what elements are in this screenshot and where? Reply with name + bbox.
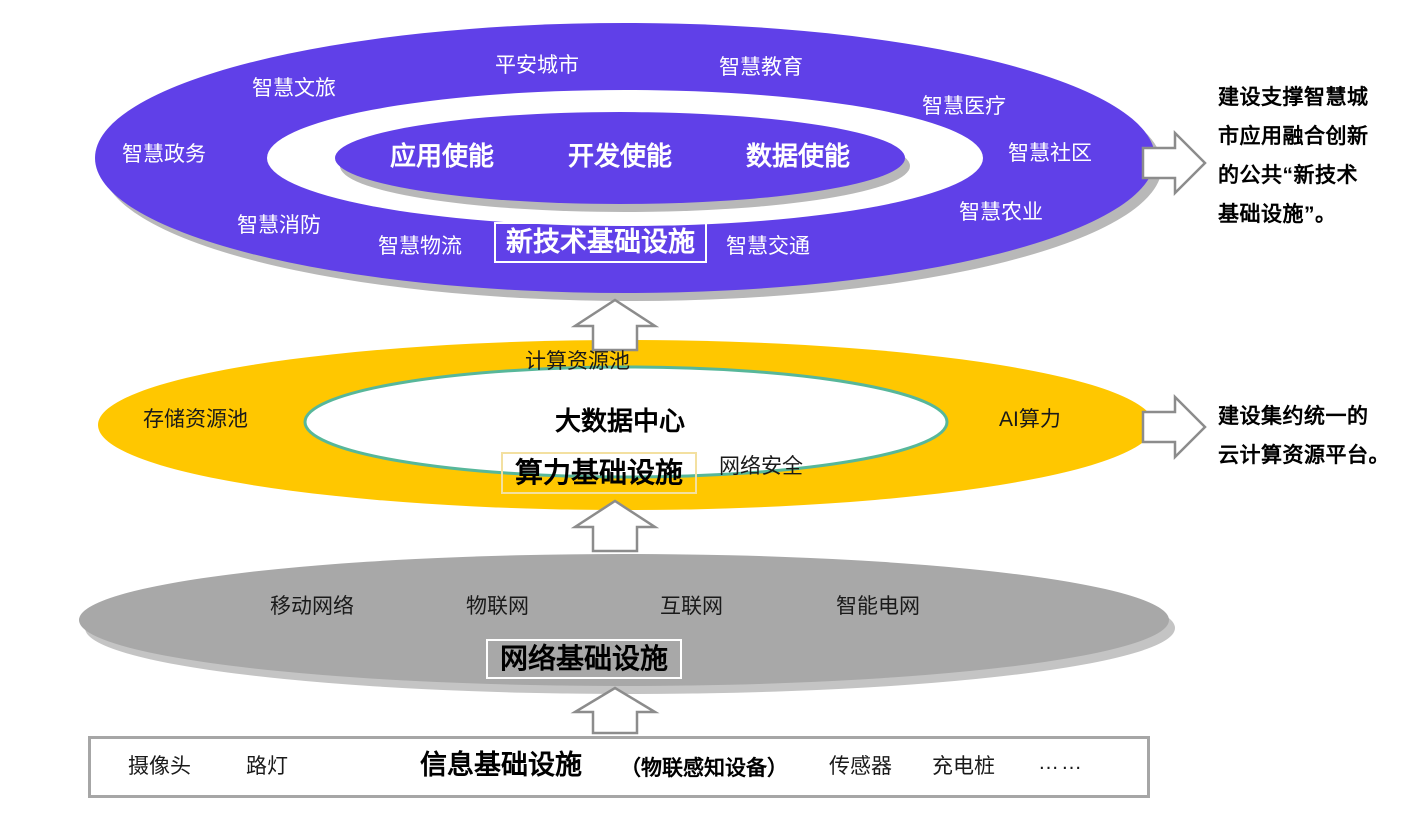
ring-label-nongye: 智慧农业 xyxy=(959,202,1043,223)
ring-label-mobile-network: 移动网络 xyxy=(270,596,354,617)
sensing-label-streetlamp: 路灯 xyxy=(246,756,288,777)
core-label-dev-enable: 开发使能 xyxy=(568,143,672,169)
core-label-application-enable: 应用使能 xyxy=(390,143,494,169)
annotation-compute-layer: 建设集约统一的 云计算资源平台。 xyxy=(1218,397,1390,475)
ring-label-compute-pool: 计算资源池 xyxy=(525,351,630,372)
annotation-application-layer: 建设支撑智慧城 市应用融合创新 的公共“新技术 基础设施”。 xyxy=(1218,78,1369,234)
ring-label-wuliu: 智慧物流 xyxy=(378,236,462,257)
ring-label-yiliao: 智慧医疗 xyxy=(922,96,1006,117)
layer-title-new-tech-infrastructure: 新技术基础设施 xyxy=(494,222,707,263)
layer-title-network-infrastructure: 网络基础设施 xyxy=(486,639,682,679)
sensing-label-ellipsis: …… xyxy=(1038,752,1084,773)
sensing-label-camera: 摄像头 xyxy=(128,756,191,777)
annotation-line: 市应用融合创新 xyxy=(1218,117,1369,156)
annotation-line: 的公共“新技术 xyxy=(1218,156,1369,195)
annotation-line: 基础设施”。 xyxy=(1218,195,1369,234)
ring-label-jiaoyu: 智慧教育 xyxy=(719,57,803,78)
up-arrow-icon-network xyxy=(575,688,655,733)
core-label-big-data-center: 大数据中心 xyxy=(555,408,685,434)
sensing-label-charger: 充电桩 xyxy=(932,756,995,777)
ring-label-internet: 互联网 xyxy=(660,596,723,617)
ring-label-smart-grid: 智能电网 xyxy=(836,596,920,617)
ring-label-iot: 物联网 xyxy=(466,596,529,617)
ring-label-jiaotong: 智慧交通 xyxy=(726,236,810,257)
ring-label-xiaofang: 智慧消防 xyxy=(237,215,321,236)
sensing-label-sensor: 传感器 xyxy=(829,756,892,777)
ring-label-shequ: 智慧社区 xyxy=(1008,143,1092,164)
layer-title-sensing-infrastructure: 信息基础设施 xyxy=(420,752,582,779)
layer-title-sensing-suffix: （物联感知设备） xyxy=(620,758,788,779)
ring-label-network-security: 网络安全 xyxy=(719,456,803,477)
annotation-line: 建设支撑智慧城 xyxy=(1218,78,1369,117)
ring-label-storage-pool: 存储资源池 xyxy=(143,409,248,430)
ring-label-wenlv: 智慧文旅 xyxy=(252,78,336,99)
core-label-data-enable: 数据使能 xyxy=(746,143,850,169)
annotation-line: 建设集约统一的 xyxy=(1218,397,1390,436)
ring-label-ai-compute: AI算力 xyxy=(999,409,1061,430)
diagram-canvas: 智慧文旅 平安城市 智慧教育 智慧医疗 智慧政务 智慧社区 智慧消防 智慧农业 … xyxy=(0,0,1412,815)
ring-label-pingan: 平安城市 xyxy=(495,55,579,76)
annotation-line: 云计算资源平台。 xyxy=(1218,436,1390,475)
right-arrow-icon-compute xyxy=(1143,397,1205,457)
layer-title-compute-infrastructure: 算力基础设施 xyxy=(501,452,697,494)
ring-label-zhengwu: 智慧政务 xyxy=(122,144,206,165)
